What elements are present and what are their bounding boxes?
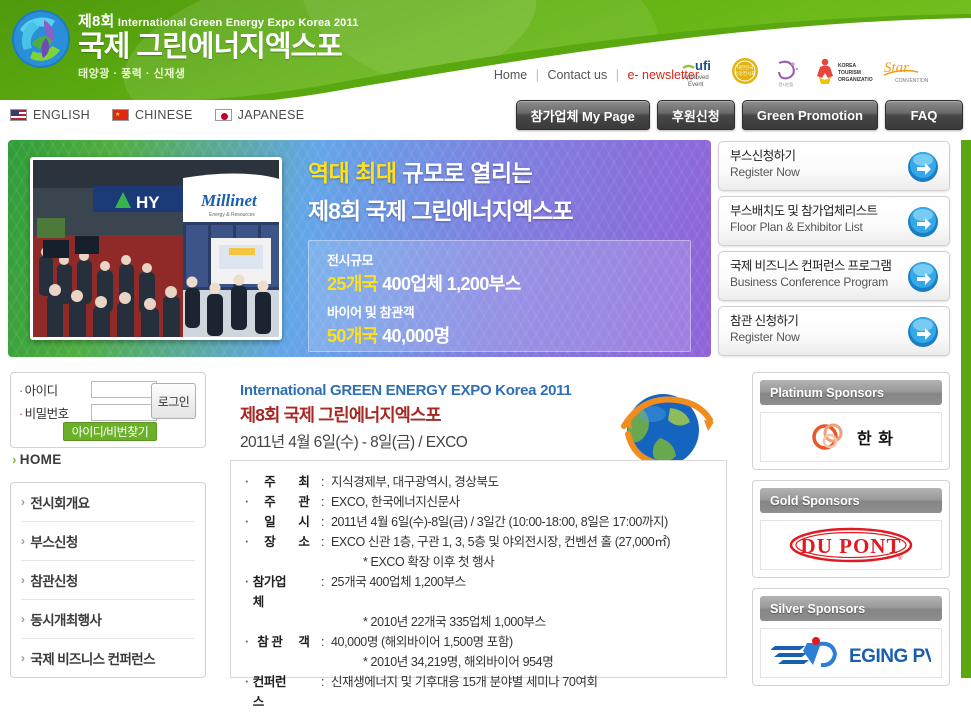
japan-flag-icon [215,109,232,121]
svg-text:Event: Event [688,82,704,88]
quicklink-floor-plan[interactable]: 부스배치도 및 참가업체리스트 Floor Plan & Exhibitor L… [718,196,950,246]
hero-stat-label-scale: 전시규모 [327,250,690,269]
id-label: 아이디 [19,380,91,399]
logo-tagline: 태양광 · 풍력 · 신재생 [78,65,359,81]
svg-text:TOURISM: TOURISM [838,70,861,76]
info-row: 일시 : 2011년 4월 6일(수)-8일(금) / 3일간 (10:00-1… [245,512,714,532]
sponsors-panel: Platinum Sponsors 한 화 Gold Sponsors DU P… [752,372,950,696]
info-value: 지식경제부, 대구광역시, 경상북도 [331,472,499,492]
arrow-right-icon [906,205,940,239]
green-promotion-button[interactable]: Green Promotion [742,100,878,130]
hero-text-block: 역대 최대 규모로 열리는 제8회 국제 그린에너지엑스포 전시규모 25개국 … [308,154,700,352]
nav-separator: | [536,68,539,82]
info-row: 컨퍼런스 : 신재생에너지 및 기후대응 15개 분야별 세미나 70여회 [245,672,714,712]
info-row: 참가업체 : 25개국 400업체 1,200부스 [245,572,714,612]
star-convention-badge: Star CONVENTION [881,54,933,90]
language-japanese[interactable]: JAPANESE [215,108,305,122]
info-value: EXCO 신관 1층, 구관 1, 3, 5층 및 야외전시장, 컨벤션 홀 (… [331,532,670,552]
sidebar-item-label: 국제 비즈니스 컨퍼런스 [30,648,155,668]
info-row: 주관 : EXCO, 한국에너지신문사 [245,492,714,512]
login-button[interactable]: 로그인 [151,383,196,419]
svg-text:Approved: Approved [683,75,709,81]
page-title-en: International GREEN ENERGY EXPO Korea 20… [240,382,571,399]
chevron-right-icon: › [21,612,24,626]
certification-badges: ufi Approved Event 대한민국 유망전시회 전시인증 [681,54,933,90]
gold-sponsors-box: Gold Sponsors DU PONT ® [752,480,950,578]
chevron-right-icon: › [12,452,17,467]
page-date-line: 2011년 4월 6일(수) - 8일(금) / EXCO [240,430,571,452]
info-value: EXCO, 한국에너지신문사 [331,492,460,512]
password-input[interactable] [91,404,157,421]
ufi-approved-event-badge: ufi Approved Event [681,54,721,90]
exhibition-photo: HY Millinet Energy & Resources [30,157,282,340]
sidebar-item-label: 동시개최행사 [30,609,101,629]
site-header: 제8회 International Green Energy Expo Kore… [0,0,971,100]
breadcrumb[interactable]: ›HOME [12,452,62,467]
eging-pv-logo[interactable]: EGING PV [760,628,942,678]
info-row: 참 관객 : 40,000명 (해외바이어 1,500명 포함) [245,632,714,652]
platinum-sponsors-box: Platinum Sponsors 한 화 [752,372,950,470]
purple-mark-badge: 전시인증 [769,54,803,90]
sidebar-item-exhibition-overview[interactable]: › 전시회개요 [21,483,195,522]
info-value: 25개국 400업체 1,200부스 [331,572,466,612]
chevron-right-icon: › [21,573,24,587]
login-box: 아이디 비밀번호 로그인 아이디/비번찾기 [10,372,206,448]
page-title-kr: 제8회 국제 그린에너지엑스포 [240,402,571,427]
info-label: 참가업체 [245,572,321,612]
info-value: 2011년 4월 6일(수)-8일(금) / 3일간 (10:00-18:00,… [331,512,668,532]
svg-text:유망전시회: 유망전시회 [735,70,756,77]
info-note: * EXCO 확장 이후 첫 행사 [245,552,714,572]
hero-headline-1: 역대 최대 규모로 열리는 [308,154,700,188]
sidebar-item-label: 참관신청 [30,570,77,590]
sidebar-menu: › 전시회개요 › 부스신청 › 참관신청 › 동시개최행사 › 국제 비즈니스… [10,482,206,678]
language-label: ENGLISH [33,108,90,122]
platinum-sponsors-header: Platinum Sponsors [760,380,942,405]
password-label: 비밀번호 [19,403,91,422]
info-label: 주최 [245,472,321,492]
svg-text:HY: HY [136,193,160,212]
expo-logo-icon[interactable] [10,8,72,70]
arrow-right-icon [906,315,940,349]
svg-text:Millinet: Millinet [200,191,258,210]
info-note: * 2010년 34,219명, 해외바이어 954명 [245,652,714,672]
sidebar-item-label: 부스신청 [30,531,77,551]
hero-stat-value-visitors: 50개국 40,000명 [327,322,690,348]
silver-sponsors-header: Silver Sponsors [760,596,942,621]
korea-tourism-organization-badge: KOREA TOURISM ORGANIZATION [811,54,873,90]
language-label: JAPANESE [238,108,305,122]
my-page-button[interactable]: 참가업체 My Page [516,100,650,130]
hanwha-logo[interactable]: 한 화 [760,412,942,462]
sidebar-item-booth-application[interactable]: › 부스신청 [21,522,195,561]
info-label: 컨퍼런스 [245,672,321,712]
event-info-box: 주최 : 지식경제부, 대구광역시, 경상북도 주관 : EXCO, 한국에너지… [230,460,727,678]
right-green-strip [961,140,971,678]
svg-text:ORGANIZATION: ORGANIZATION [838,77,873,83]
sidebar-item-visitor-application[interactable]: › 참관신청 [21,561,195,600]
svg-text:KOREA: KOREA [838,63,856,69]
info-value: 신재생에너지 및 기후대응 15개 분야별 세미나 70여회 [331,672,598,712]
sidebar-item-label: 전시회개요 [30,492,89,512]
svg-text:EGING PV: EGING PV [849,646,931,667]
svg-text:DU PONT: DU PONT [801,534,902,558]
svg-text:®: ® [898,555,903,562]
info-note: * 2010년 22개국 335업체 1,000부스 [245,612,714,632]
faq-button[interactable]: FAQ [885,100,963,130]
svg-text:ufi: ufi [695,58,711,73]
silver-sponsors-box: Silver Sponsors EGING PV [752,588,950,686]
logo-edition: 제8회 [78,13,115,30]
quicklink-visitor-registration[interactable]: 참관 신청하기 Register Now [718,306,950,356]
info-label: 참 관객 [245,632,321,652]
dupont-logo[interactable]: DU PONT ® [760,520,942,570]
arrow-right-icon [906,260,940,294]
logo-text-block: 제8회 International Green Energy Expo Kore… [78,10,359,81]
page-title: International GREEN ENERGY EXPO Korea 20… [240,382,571,452]
hero-stat-label-visitors: 바이어 및 참관객 [327,302,690,321]
info-label: 일시 [245,512,321,532]
info-row: 장소 : EXCO 신관 1층, 구관 1, 3, 5층 및 야외전시장, 컨벤… [245,532,714,552]
logo-title-kr: 국제 그린에너지엑스포 [78,32,359,62]
info-value: 40,000명 (해외바이어 1,500명 포함) [331,632,513,652]
sidebar-item-concurrent-events[interactable]: › 동시개최행사 [21,600,195,639]
chevron-right-icon: › [21,651,24,665]
info-label: 장소 [245,532,321,552]
nav-home[interactable]: Home [494,68,527,82]
language-label: CHINESE [135,108,193,122]
china-flag-icon: ★ [112,109,129,121]
find-id-password-button[interactable]: 아이디/비번찾기 [63,422,157,441]
hero-banner[interactable]: HY Millinet Energy & Resources [8,140,711,357]
chevron-right-icon: › [21,495,24,509]
id-input[interactable] [91,381,157,398]
logo-title-en: 제8회 International Green Energy Expo Kore… [78,10,359,31]
language-chinese[interactable]: ★ CHINESE [112,108,193,122]
usa-flag-icon [10,109,27,121]
sidebar-item-international-business-conference[interactable]: › 국제 비즈니스 컨퍼런스 [21,639,195,678]
hero-stats-box: 전시규모 25개국 400업체 1,200부스 바이어 및 참관객 50개국 4… [308,240,691,352]
hero-stat-value-scale: 25개국 400업체 1,200부스 [327,270,690,296]
quicklink-business-conference[interactable]: 국제 비즈니스 컨퍼런스 프로그램 Business Conference Pr… [718,251,950,301]
gold-seal-badge: 대한민국 유망전시회 [729,54,761,90]
arrow-right-icon [906,150,940,184]
quicklink-booth-registration[interactable]: 부스신청하기 Register Now [718,141,950,191]
svg-text:Energy & Resources: Energy & Resources [209,212,255,218]
hero-headline-2: 제8회 국제 그린에너지엑스포 [308,192,700,226]
sponsorship-application-button[interactable]: 후원신청 [657,100,735,130]
svg-text:대한민국: 대한민국 [737,64,754,71]
header-button-row: 참가업체 My Page 후원신청 Green Promotion FAQ [516,100,963,130]
language-english[interactable]: ENGLISH [10,108,90,122]
gold-sponsors-header: Gold Sponsors [760,488,942,513]
quick-links-panel: 부스신청하기 Register Now 부스배치도 및 참가업체리스트 Floo… [718,141,950,361]
info-label: 주관 [245,492,321,512]
language-selector: ENGLISH ★ CHINESE JAPANESE [0,108,304,122]
chevron-right-icon: › [21,534,24,548]
top-navigation: Home | Contact us | e- newsletter [494,68,699,82]
svg-text:전시인증: 전시인증 [779,81,794,87]
nav-contact-us[interactable]: Contact us [547,68,607,82]
info-row: 주최 : 지식경제부, 대구광역시, 경상북도 [245,472,714,492]
hero-headline-rest: 규모로 열리는 [397,160,533,186]
nav-separator: | [616,68,619,82]
hero-headline-highlight: 역대 최대 [308,160,397,186]
svg-text:CONVENTION: CONVENTION [895,78,929,84]
